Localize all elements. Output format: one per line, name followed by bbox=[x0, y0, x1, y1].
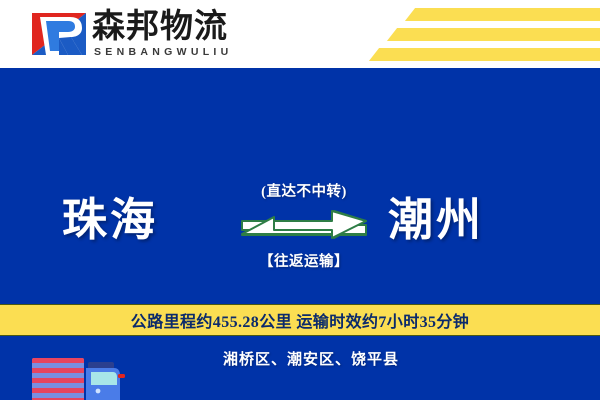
route-info-bar: 公路里程约455.28公里 运输时效约7小时35分钟 bbox=[0, 304, 600, 336]
double-headed-arrow-icon bbox=[240, 208, 368, 244]
banner-header: 森邦物流 SENBANGWULIU bbox=[0, 0, 600, 68]
brand-name-cn: 森邦物流 bbox=[92, 9, 228, 45]
origin-city-label: 珠海 bbox=[62, 196, 158, 244]
header-stripe-1 bbox=[405, 8, 600, 21]
senbang-r-logo-icon bbox=[30, 11, 88, 57]
header-stripe-2 bbox=[387, 28, 600, 41]
route-center-group: (直达不中转) 【往返运输】 bbox=[240, 180, 368, 271]
delivery-truck-icon bbox=[26, 354, 128, 400]
route-info-text: 公路里程约455.28公里 运输时效约7小时35分钟 bbox=[131, 308, 469, 332]
logistics-route-banner: 森邦物流 SENBANGWULIU 珠海 (直达不中转) 【往返运输】 潮州 公… bbox=[0, 0, 600, 400]
header-stripe-3 bbox=[369, 48, 600, 61]
brand-name-en: SENBANGWULIU bbox=[94, 46, 233, 58]
route-note-direct: (直达不中转) bbox=[240, 180, 368, 201]
route-note-roundtrip: 【往返运输】 bbox=[240, 250, 368, 271]
main-blue-panel: 珠海 (直达不中转) 【往返运输】 潮州 公路里程约455.28公里 运输时效约… bbox=[0, 68, 600, 400]
destination-city-label: 潮州 bbox=[388, 196, 484, 244]
